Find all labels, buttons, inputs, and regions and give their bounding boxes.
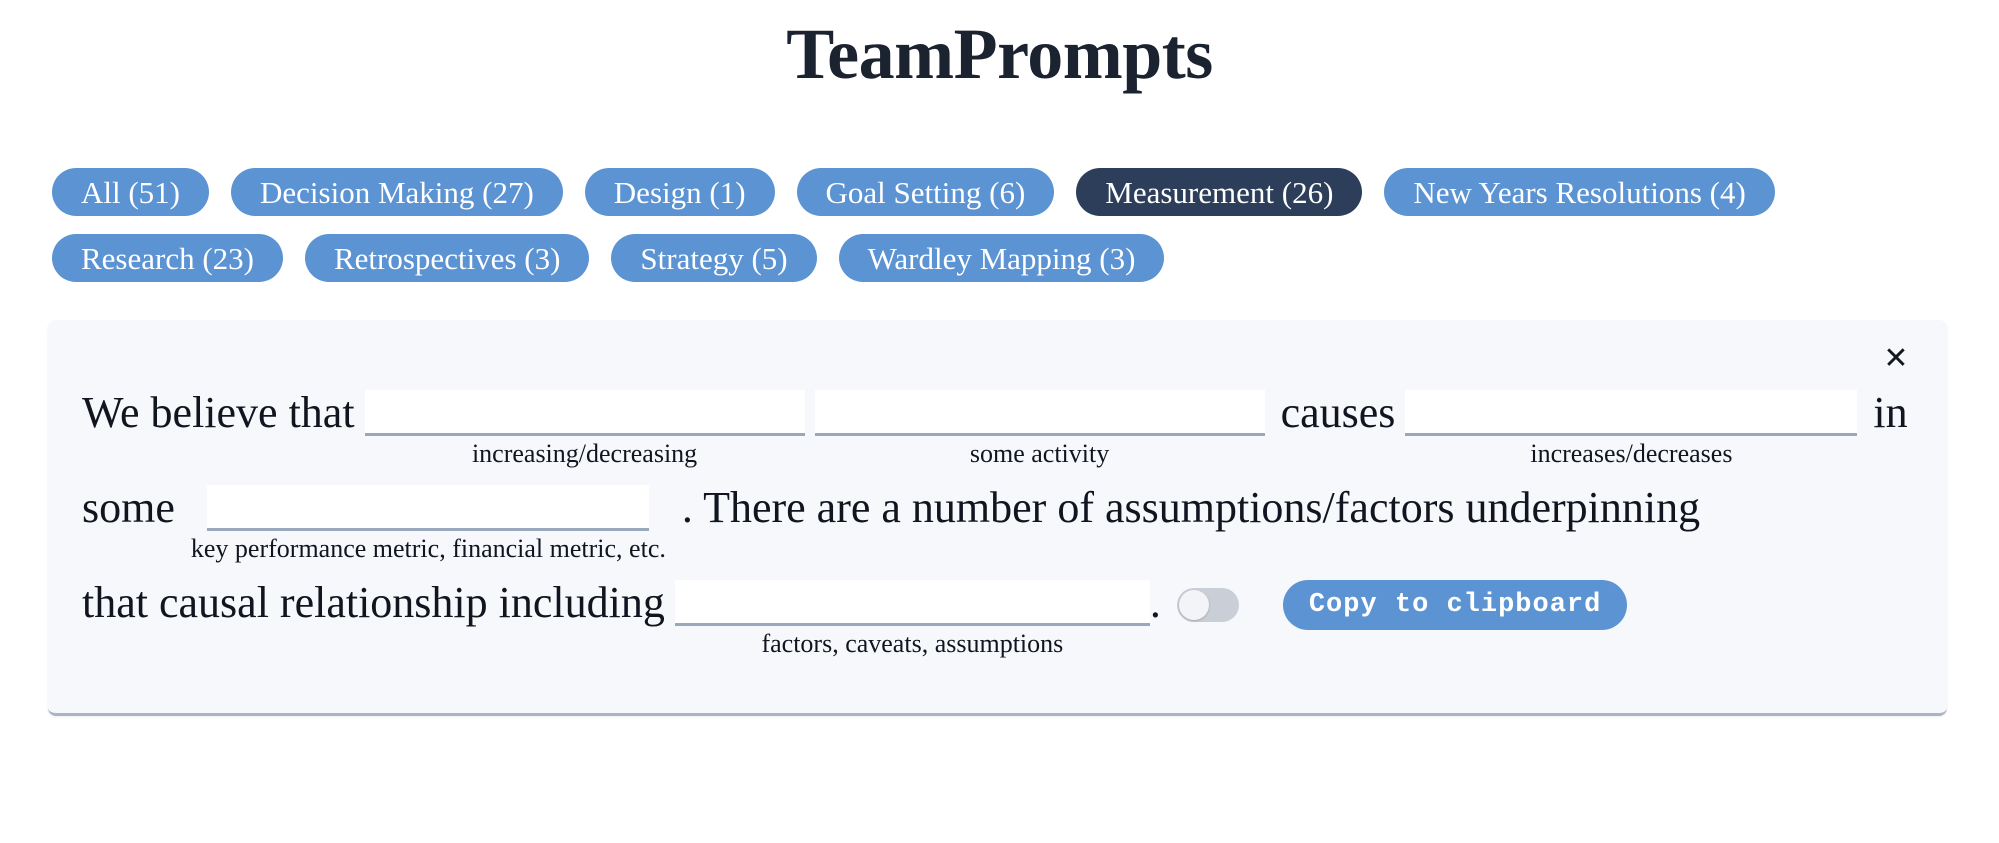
prompt-line-1: We believe that increasing/decreasing so… [82,384,1913,469]
field-group-factors-caveats-assumptions: factors, caveats, assumptions [675,574,1150,659]
input-some-activity[interactable] [815,390,1265,436]
filter-pill-design[interactable]: Design (1) [585,168,775,216]
field-group-key-performance-metric: key performance metric, financial metric… [191,479,666,564]
hint-factors-caveats-assumptions: factors, caveats, assumptions [761,629,1063,659]
prompt-line-3: that causal relationship including facto… [82,574,1913,659]
category-filter-bar: All (51) Decision Making (27) Design (1)… [0,168,1984,282]
field-group-increasing-decreasing: increasing/decreasing [365,384,805,469]
input-key-performance-metric[interactable] [207,485,649,531]
prompt-text-in: in [1873,384,1907,442]
filter-pill-strategy[interactable]: Strategy (5) [611,234,816,282]
prompt-text-we-believe-that: We believe that [82,384,355,442]
hint-key-performance-metric: key performance metric, financial metric… [191,534,666,564]
input-increasing-decreasing[interactable] [365,390,805,436]
field-group-increases-decreases: increases/decreases [1405,384,1857,469]
prompt-text-causal-relationship: that causal relationship including [82,574,665,632]
filter-pill-research[interactable]: Research (23) [52,234,283,282]
input-factors-caveats-assumptions[interactable] [675,580,1150,626]
field-group-some-activity: some activity [815,384,1265,469]
toggle-knob-icon [1179,590,1209,620]
filter-pill-goal-setting[interactable]: Goal Setting (6) [797,168,1055,216]
filter-pill-wardley-mapping[interactable]: Wardley Mapping (3) [839,234,1165,282]
filter-pill-decision-making[interactable]: Decision Making (27) [231,168,563,216]
filter-pill-retrospectives[interactable]: Retrospectives (3) [305,234,589,282]
filter-pill-measurement[interactable]: Measurement (26) [1076,168,1362,216]
prompt-line-2: some key performance metric, financial m… [82,479,1913,564]
filter-pill-new-years-resolutions[interactable]: New Years Resolutions (4) [1384,168,1774,216]
prompt-text-period: . [1150,574,1161,632]
copy-to-clipboard-button[interactable]: Copy to clipboard [1283,580,1627,630]
prompt-text-assumptions-factors: . There are a number of assumptions/fact… [682,479,1700,537]
close-icon[interactable]: ✕ [1879,342,1913,376]
hint-increases-decreases: increases/decreases [1530,439,1732,469]
page-title: TeamPrompts [0,0,1999,90]
prompt-card: ✕ We believe that increasing/decreasing … [48,320,1947,716]
visibility-toggle[interactable] [1177,588,1239,622]
hint-some-activity: some activity [970,439,1109,469]
prompt-text-causes: causes [1281,384,1396,442]
prompt-text-some: some [82,479,175,537]
input-increases-decreases[interactable] [1405,390,1857,436]
filter-pill-all[interactable]: All (51) [52,168,209,216]
prompt-template-text: We believe that increasing/decreasing so… [82,384,1913,659]
hint-increasing-decreasing: increasing/decreasing [472,439,697,469]
